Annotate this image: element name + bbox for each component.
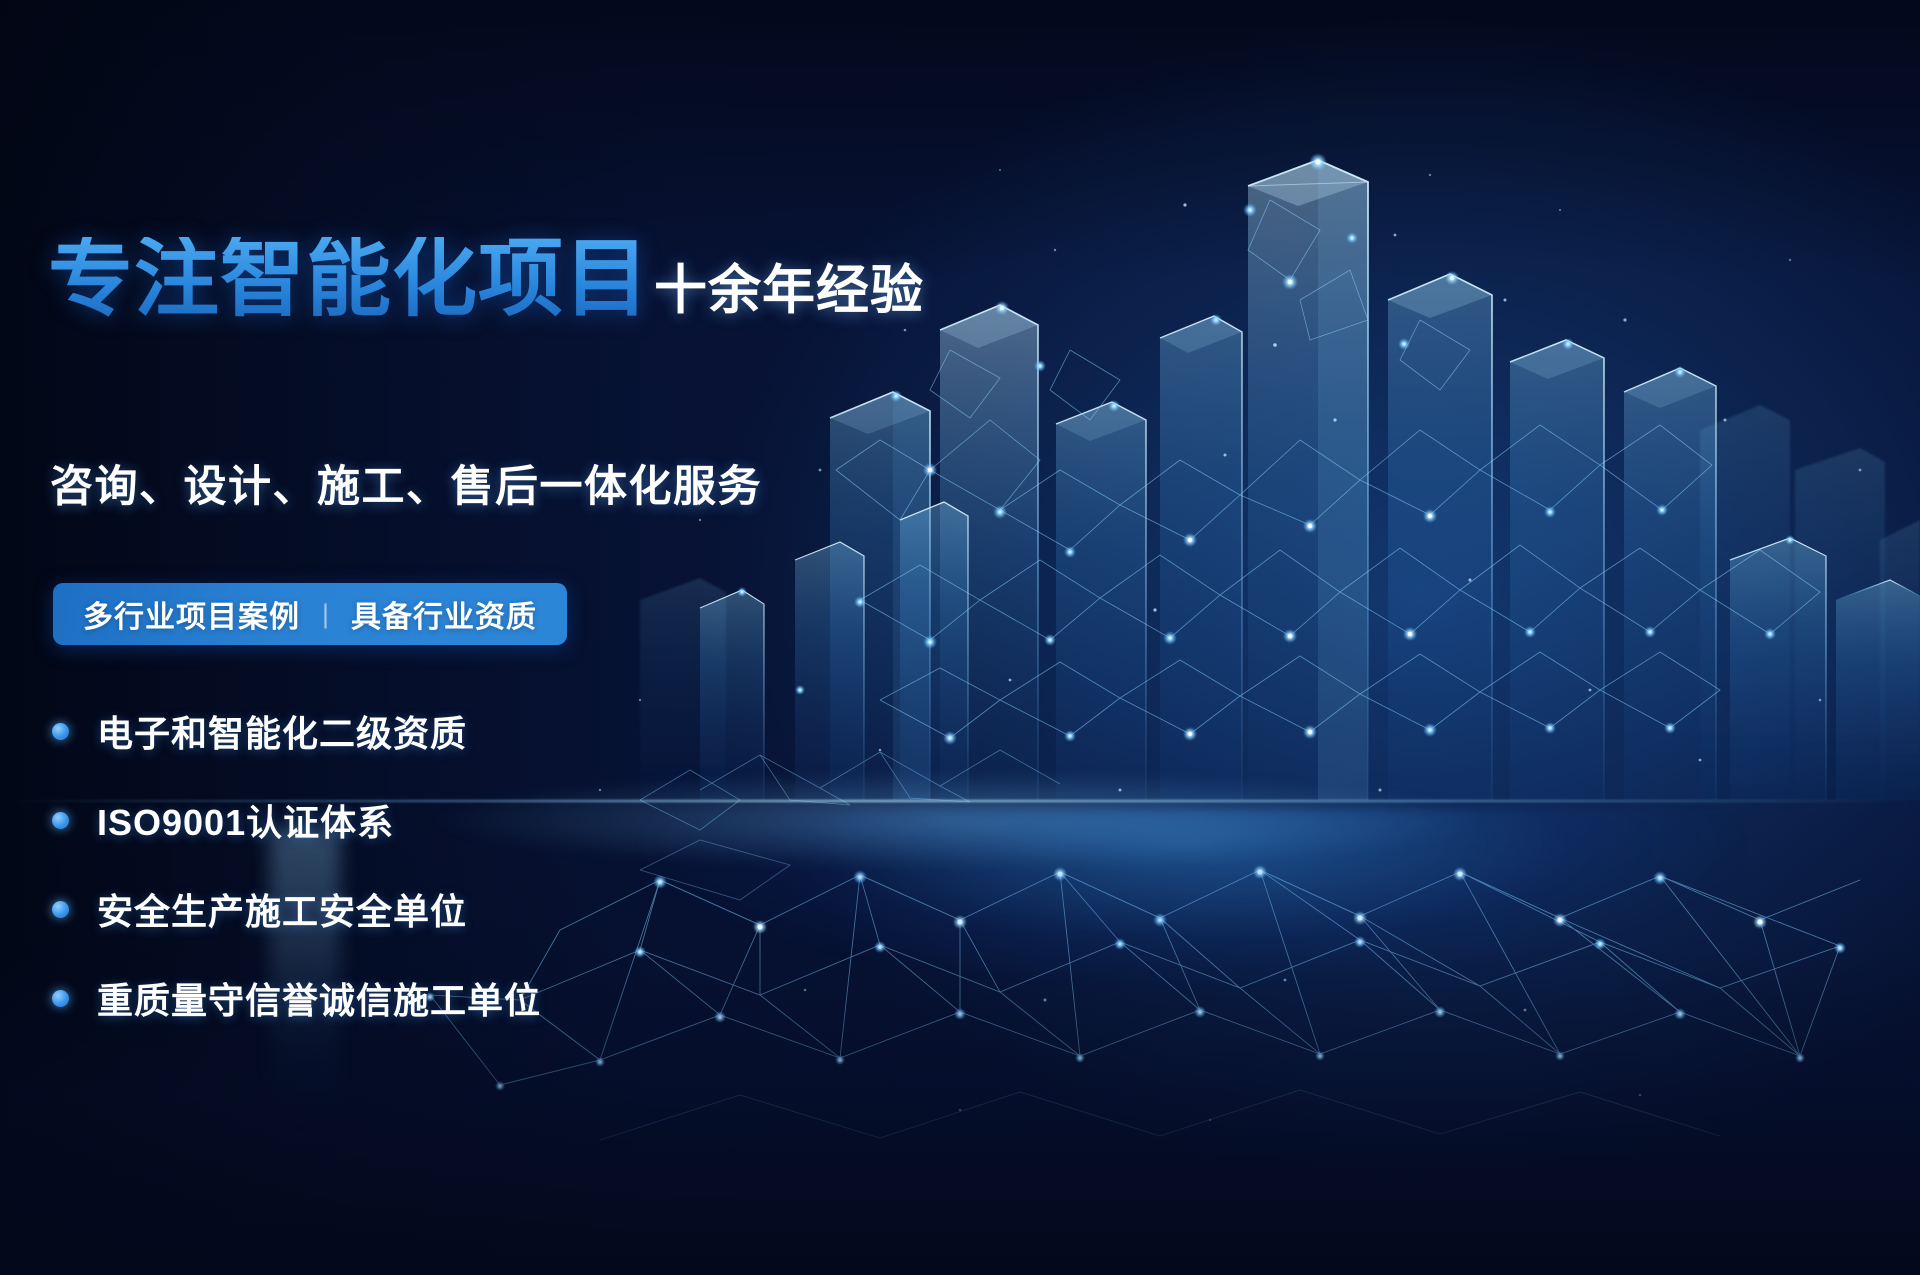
bullet-dot-icon: [52, 990, 69, 1007]
bullet-dot-icon: [52, 901, 69, 918]
bullet-dot-icon: [52, 723, 69, 740]
list-item-label: 重质量守信誉诚信施工单位: [97, 972, 541, 1024]
headline-sub: 十余年经验: [654, 264, 924, 317]
headline-main: 专注智能化项目: [48, 237, 650, 322]
list-item: 安全生产施工安全单位: [52, 883, 541, 935]
qualification-badge: 多行业项目案例 | 具备行业资质: [53, 583, 567, 645]
badge-label-cases: 多行业项目案例: [83, 592, 300, 636]
badge-divider: |: [322, 599, 329, 630]
tagline: 咨询、设计、施工、售后一体化服务: [50, 452, 762, 514]
list-item: 重质量守信誉诚信施工单位: [52, 972, 541, 1024]
hero-banner: 专注智能化项目 十余年经验 咨询、设计、施工、售后一体化服务 多行业项目案例 |…: [0, 0, 1920, 1275]
list-item: ISO9001认证体系: [52, 794, 541, 846]
headline: 专注智能化项目 十余年经验: [48, 237, 924, 322]
list-item: 电子和智能化二级资质: [52, 705, 541, 757]
feature-list: 电子和智能化二级资质 ISO9001认证体系 安全生产施工安全单位 重质量守信誉…: [52, 705, 541, 1024]
list-item-label: 安全生产施工安全单位: [97, 883, 467, 935]
list-item-label: ISO9001认证体系: [97, 794, 394, 846]
badge-label-qualification: 具备行业资质: [351, 592, 537, 636]
bullet-dot-icon: [52, 812, 69, 829]
list-item-label: 电子和智能化二级资质: [97, 705, 467, 757]
